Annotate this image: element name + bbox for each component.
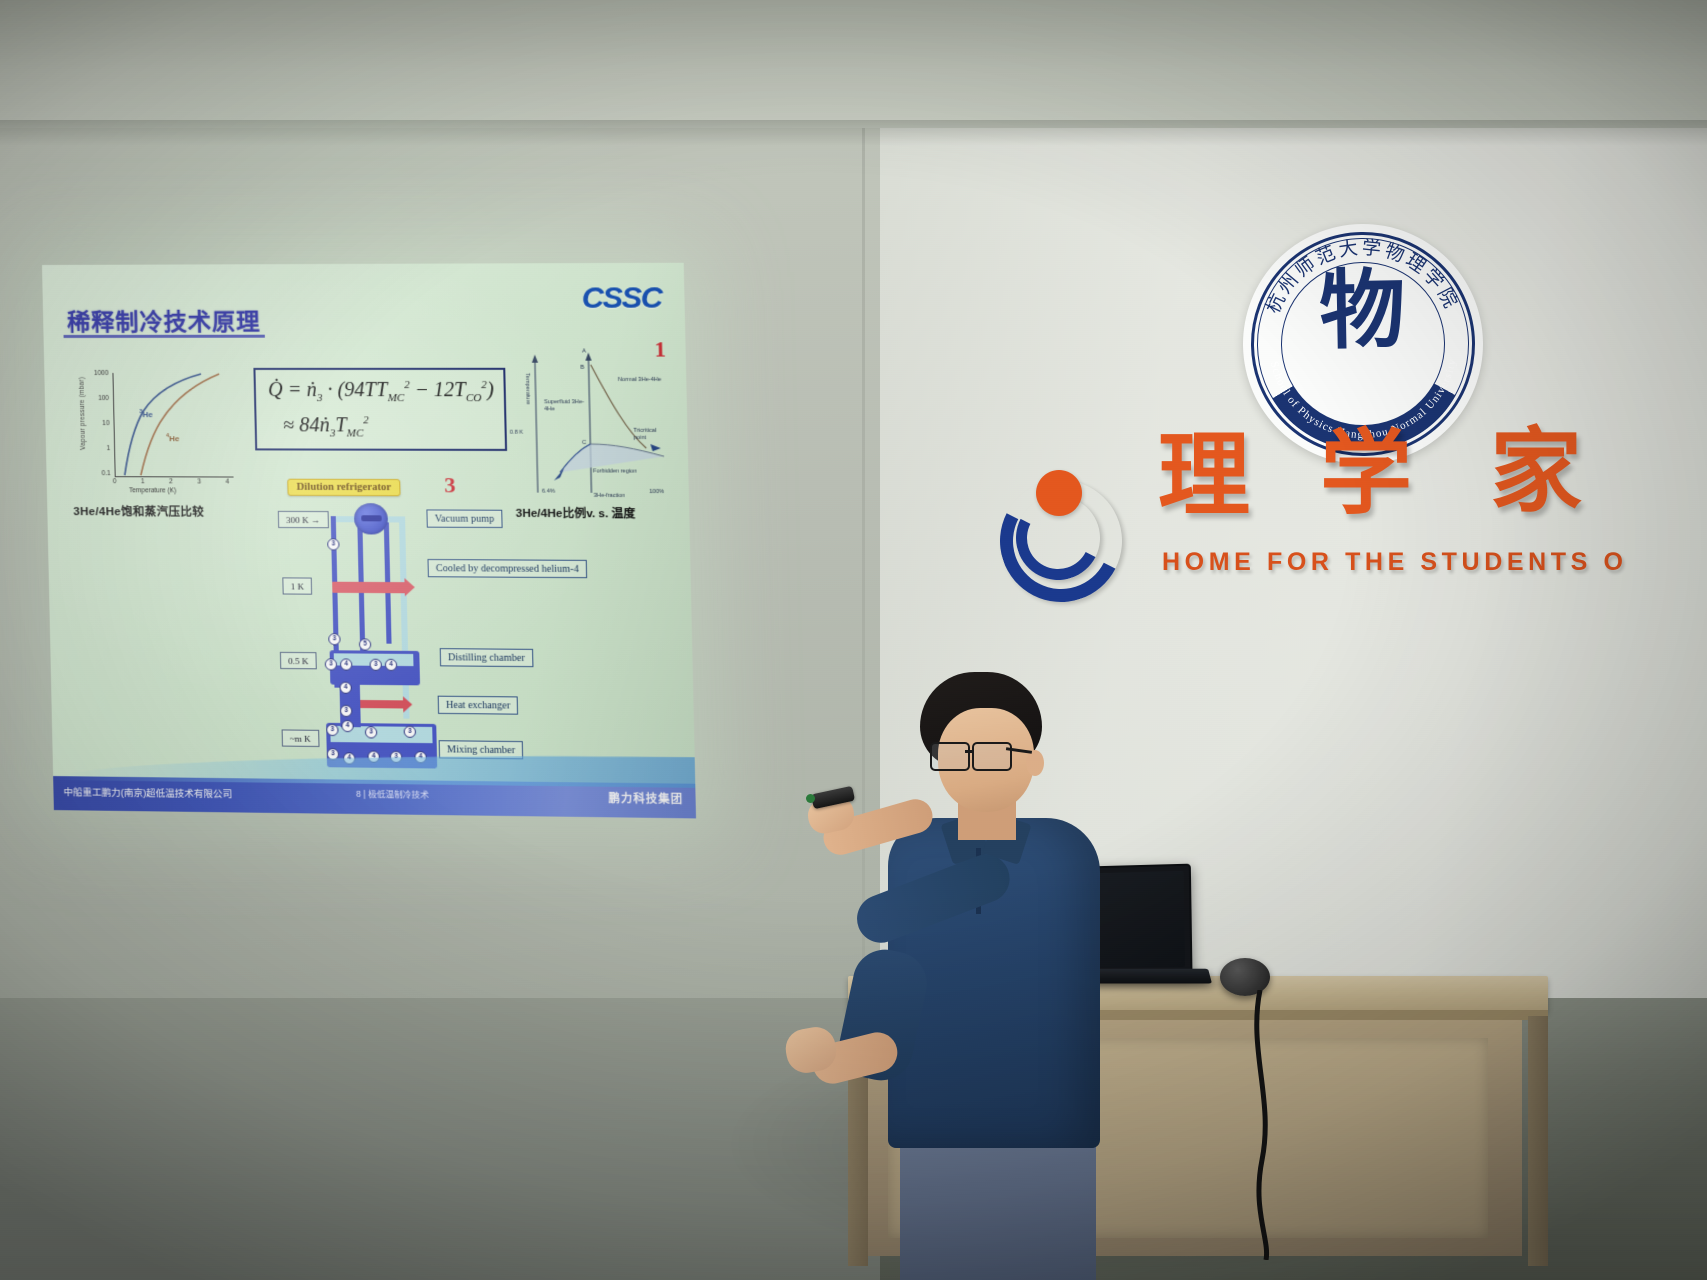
lecture-room-photo: 稀释制冷技术原理 CSSC 1 Vapour pressure (mbar) 1… (0, 0, 1707, 1280)
photo-vignette (0, 0, 1707, 1280)
